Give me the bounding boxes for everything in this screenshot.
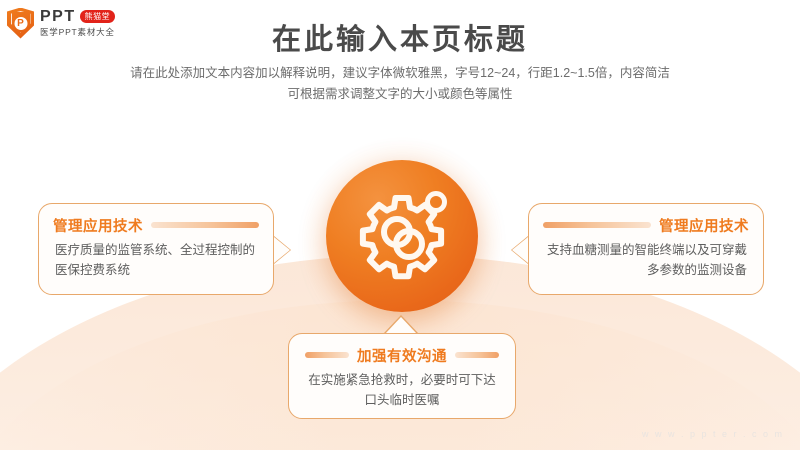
card-bottom-body: 在实施紧急抢救时，必要时可下达口头临时医嘱 [289, 370, 515, 410]
card-right-title: 管理应用技术 [659, 215, 749, 236]
card-bottom-accent-bar-left [305, 352, 349, 358]
card-right-tail [512, 237, 528, 263]
card-left-header: 管理应用技术 [39, 210, 273, 240]
card-right-accent-bar [543, 222, 651, 228]
card-left-body: 医疗质量的监管系统、全过程控制的医保控费系统 [39, 240, 273, 280]
small-ring-icon [428, 194, 445, 211]
card-left-accent-bar [151, 222, 259, 228]
info-card-left[interactable]: 管理应用技术 医疗质量的监管系统、全过程控制的医保控费系统 [38, 203, 274, 295]
center-hub-circle[interactable] [326, 160, 478, 312]
page-subtitle: 请在此处添加文本内容加以解释说明，建议字体微软雅黑，字号12~24，行距1.2~… [0, 63, 800, 105]
watermark: w w w . p p t e r . c o m [642, 429, 784, 439]
card-bottom-accent-bar-right [455, 352, 499, 358]
card-left-tail [274, 237, 290, 263]
card-bottom-header: 加强有效沟通 [289, 340, 515, 370]
card-bottom-title: 加强有效沟通 [357, 345, 447, 366]
card-right-header: 管理应用技术 [529, 210, 763, 240]
card-bottom-tail [385, 317, 417, 334]
page-title: 在此输入本页标题 [0, 16, 800, 58]
info-card-right[interactable]: 管理应用技术 支持血糖测量的智能终端以及可穿戴多参数的监测设备 [528, 203, 764, 295]
info-card-bottom[interactable]: 加强有效沟通 在实施紧急抢救时，必要时可下达口头临时医嘱 [288, 333, 516, 419]
card-left-title: 管理应用技术 [53, 215, 143, 236]
slide-canvas: P PPT 熊猫堂 医学PPT素材大全 在此输入本页标题 请在此处添加文本内容加… [0, 0, 800, 450]
page-subtitle-line-1: 请在此处添加文本内容加以解释说明，建议字体微软雅黑，字号12~24，行距1.2~… [0, 63, 800, 84]
gear-icon [352, 186, 452, 286]
card-right-body: 支持血糖测量的智能终端以及可穿戴多参数的监测设备 [529, 240, 763, 280]
page-subtitle-line-2: 可根据需求调整文字的大小或颜色等属性 [0, 84, 800, 105]
